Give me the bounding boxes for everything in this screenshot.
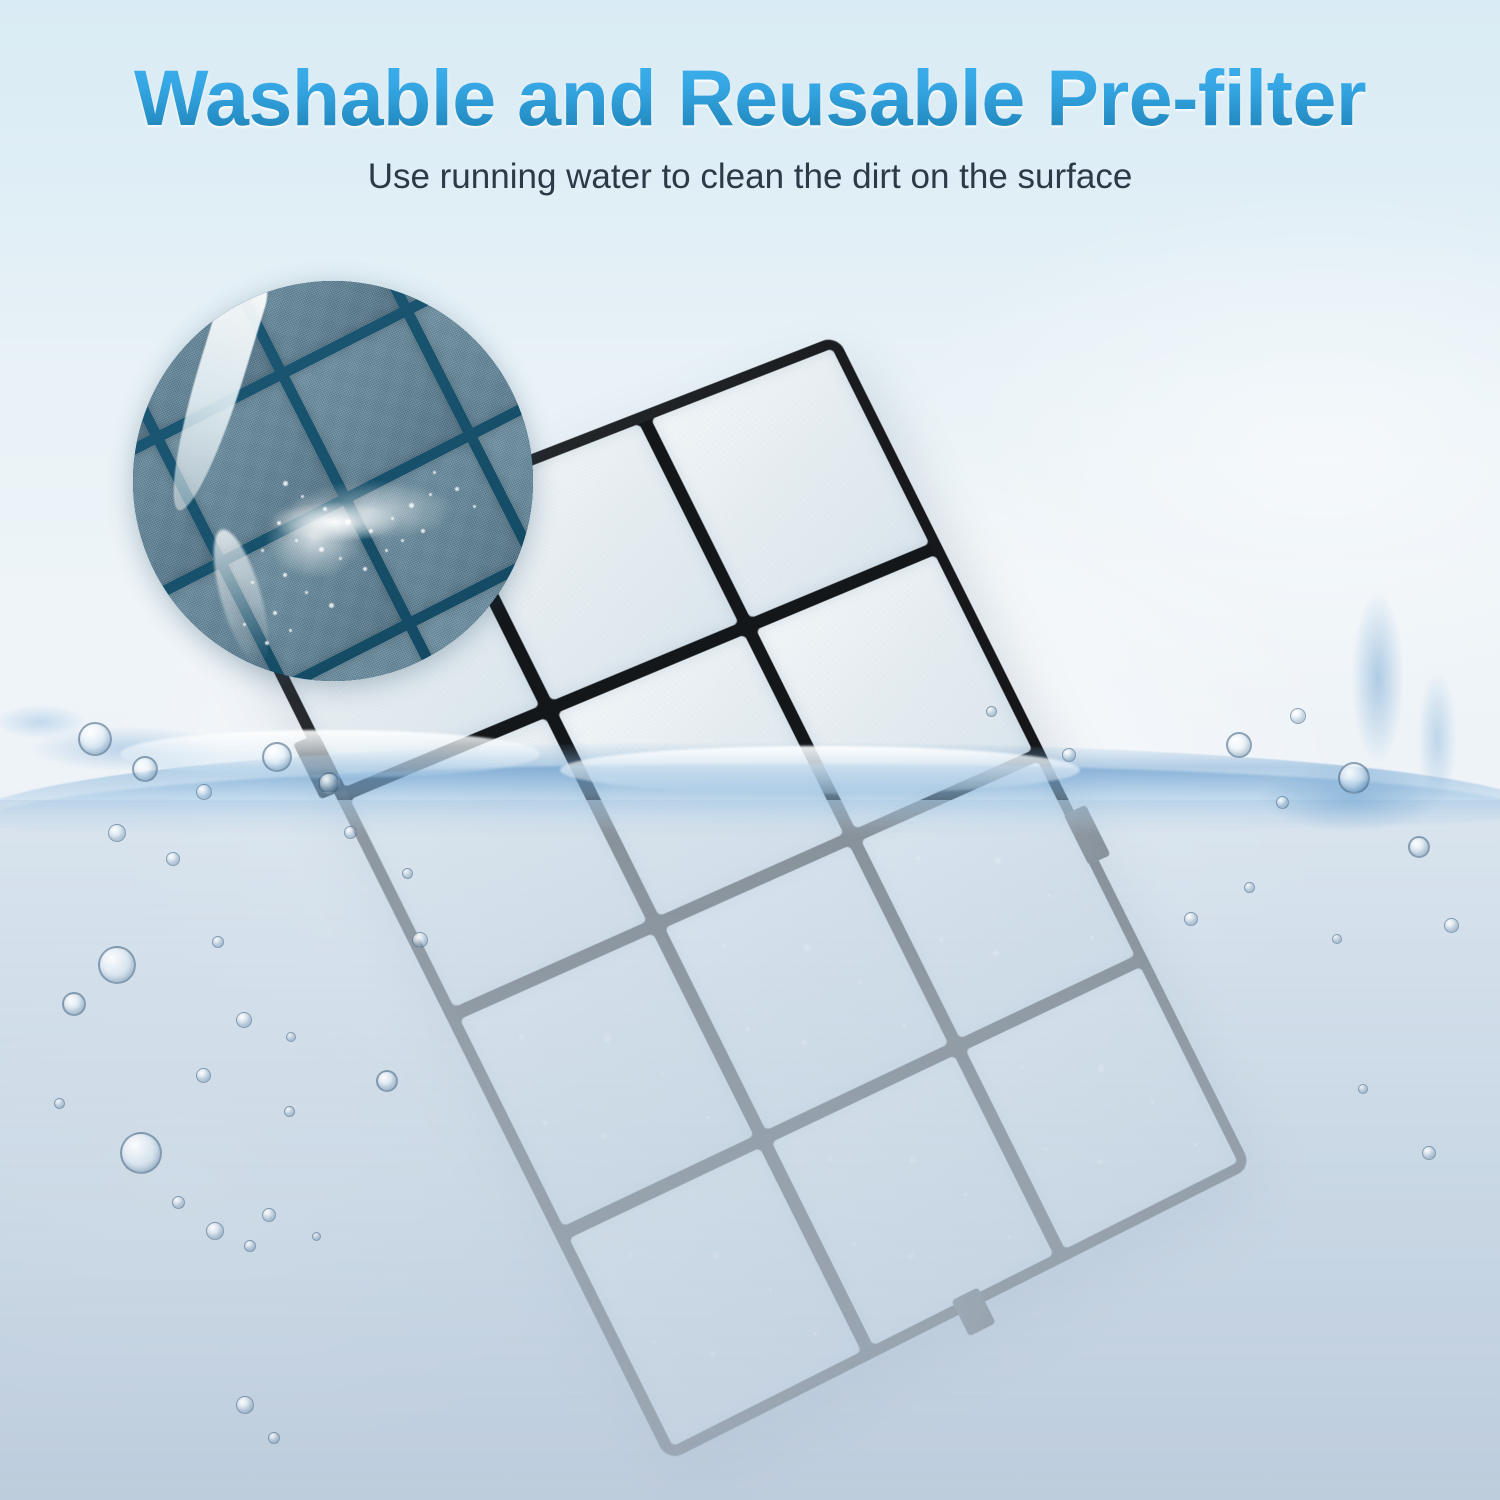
water-bubble <box>212 936 224 948</box>
water-splash-left <box>0 680 290 830</box>
water-spray-dot <box>289 629 292 632</box>
water-spray-dot <box>455 487 459 491</box>
water-bubble <box>1184 912 1198 926</box>
product-marketing-image: Washable and Reusable Pre-filter Use run… <box>0 0 1500 1500</box>
water-bubble <box>344 826 357 839</box>
water-spray-dot <box>323 507 327 511</box>
water-bubble <box>1332 934 1342 944</box>
water-bubble <box>286 1032 296 1042</box>
water-spray-dot <box>391 517 394 520</box>
magnified-detail-circle <box>133 281 533 681</box>
water-bubble <box>1358 1084 1368 1094</box>
water-bubble <box>1422 1146 1436 1160</box>
water-spray-dot <box>409 503 414 508</box>
page-title: Washable and Reusable Pre-filter <box>0 52 1500 144</box>
water-spray-dot <box>305 591 308 594</box>
water-bubble <box>376 1070 398 1092</box>
water-spray-dot <box>243 623 246 626</box>
water-bubble <box>318 772 340 794</box>
water-bubble <box>262 1208 276 1222</box>
water-bubble <box>1244 882 1255 893</box>
water-spray-dot <box>429 493 432 496</box>
water-bubble <box>172 1196 185 1209</box>
water-bubble <box>236 1396 254 1414</box>
water-bubble <box>1062 748 1076 762</box>
water-spray-dot <box>339 557 342 560</box>
water-bubble <box>120 1132 162 1174</box>
water-spray-dot <box>283 573 287 577</box>
water-bubble <box>108 824 126 842</box>
water-bubble <box>262 742 292 772</box>
water-spray-dot <box>295 539 298 542</box>
water-bubble <box>1408 836 1430 858</box>
water-bubble <box>986 706 997 717</box>
water-bubble <box>1444 918 1459 933</box>
water-spray-dot <box>319 547 324 552</box>
water-bubble <box>312 1232 321 1241</box>
water-bubble <box>132 756 158 782</box>
water-spray-dot <box>273 611 277 615</box>
water-bubble <box>98 946 136 984</box>
water-spray-dot <box>369 529 373 533</box>
water-spray-dot <box>277 521 281 525</box>
water-spray-dot <box>251 581 254 584</box>
water-bubble <box>244 1240 256 1252</box>
water-bubble <box>196 1068 211 1083</box>
water-spray-dot <box>265 641 269 645</box>
water-bubble <box>284 1106 295 1117</box>
water-spray-dot <box>433 471 436 474</box>
water-bubble <box>268 1432 280 1444</box>
water-bubble <box>1226 732 1252 758</box>
water-bubble <box>78 722 112 756</box>
water-spray-dot <box>473 505 476 508</box>
water-bubble <box>236 1012 252 1028</box>
water-spray-dot <box>421 529 425 533</box>
water-spray-dot <box>345 519 351 525</box>
water-bubble <box>54 1098 65 1109</box>
water-spray-dot <box>401 539 404 542</box>
water-spray-dot <box>283 481 288 486</box>
water-spray-dot <box>329 603 334 608</box>
water-bubble <box>196 784 212 800</box>
water-bubble <box>1276 796 1289 809</box>
water-spray-dot <box>301 495 304 498</box>
water-bubble <box>62 992 86 1016</box>
water-spray-dot <box>363 567 367 571</box>
water-bubble <box>412 932 428 948</box>
water-bubble <box>166 852 180 866</box>
page-subtitle: Use running water to clean the dirt on t… <box>0 157 1500 197</box>
water-bubble <box>1290 708 1306 724</box>
water-spray-dot <box>261 549 264 552</box>
water-bubble <box>1338 762 1370 794</box>
water-bubble <box>206 1222 224 1240</box>
water-bubble <box>402 868 413 879</box>
water-spray-dot <box>385 549 388 552</box>
